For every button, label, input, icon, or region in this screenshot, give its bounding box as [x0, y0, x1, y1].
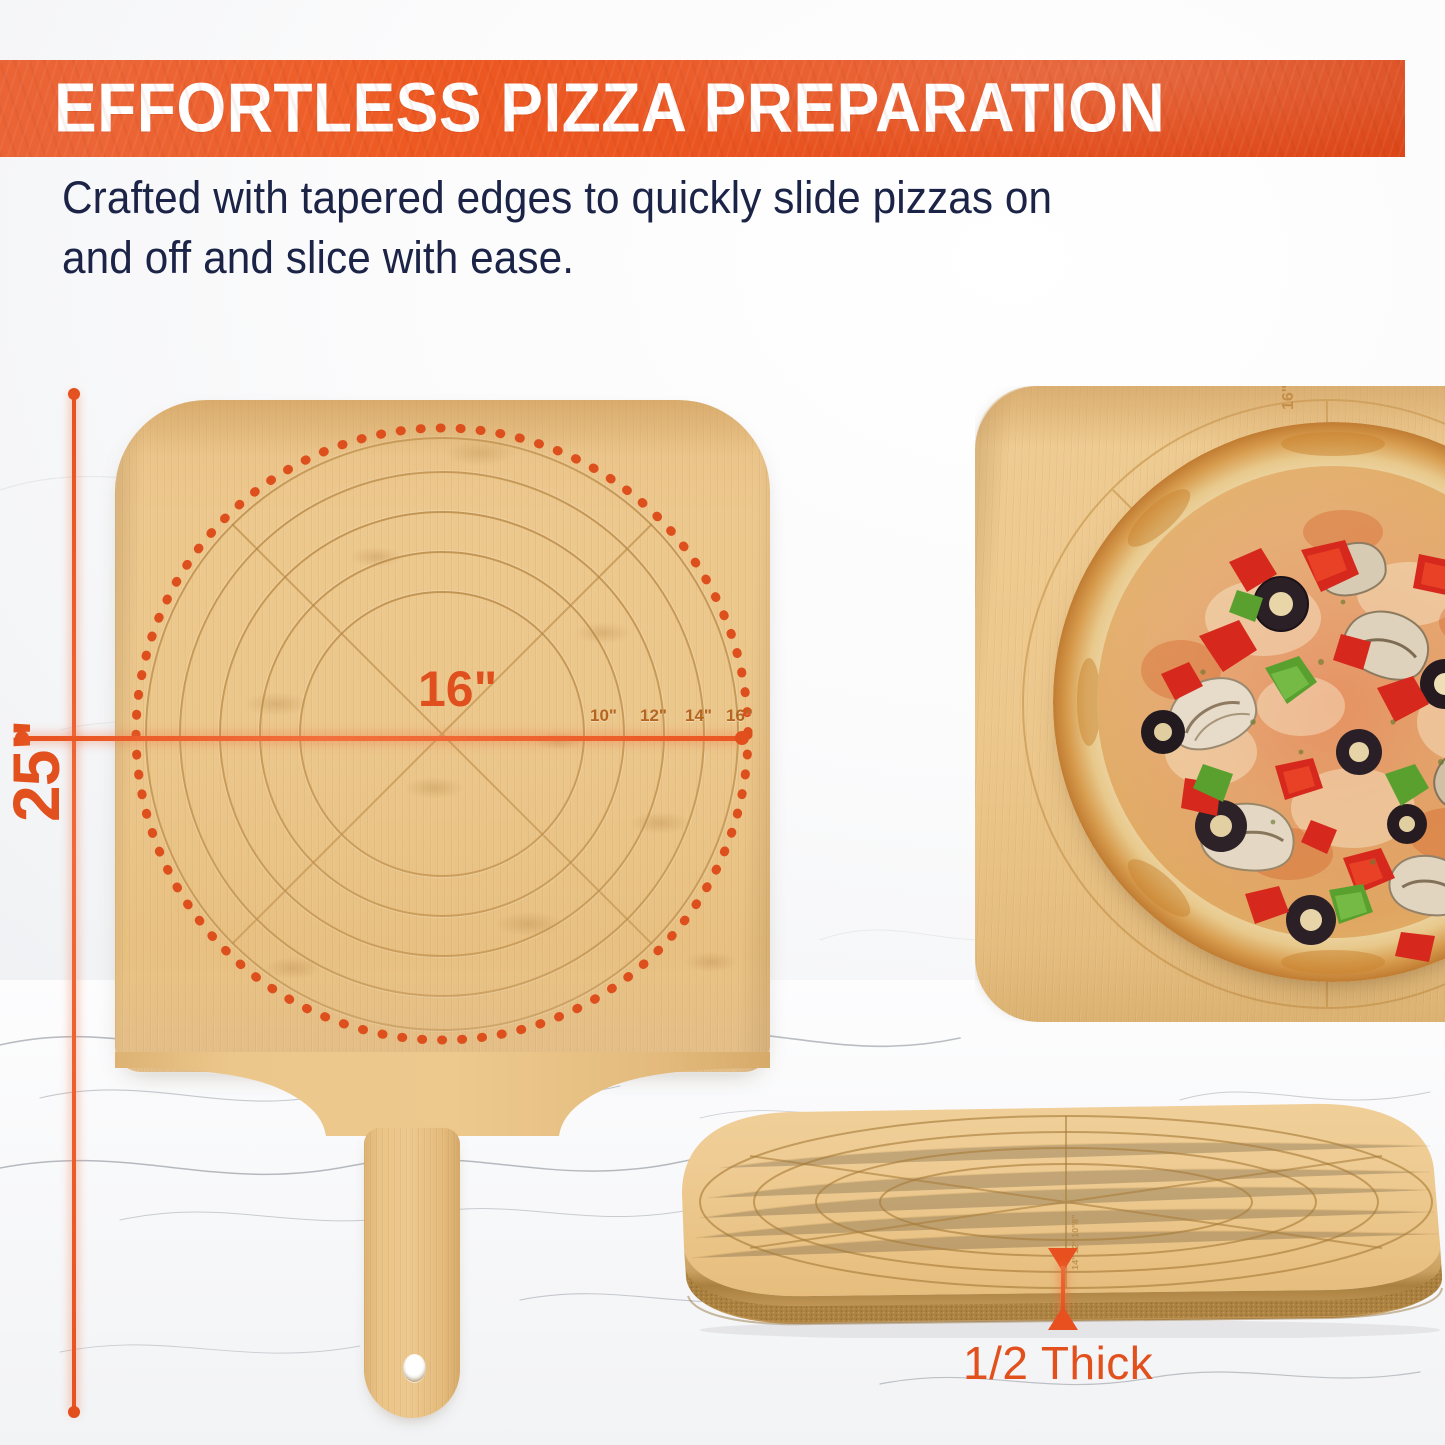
thickness-dimension-marker — [1048, 1248, 1078, 1330]
ruler-tick-labels: 10" 12" 14" 16" — [590, 706, 755, 732]
subtitle-line-1: Crafted with tapered edges to quickly sl… — [62, 168, 1052, 228]
svg-text:10": 10" — [1070, 1223, 1080, 1238]
ruler-tick-16: 16" — [726, 706, 753, 726]
subtitle-text: Crafted with tapered edges to quickly sl… — [62, 168, 1302, 288]
width-dimension-label: 16" — [418, 660, 497, 718]
thickness-dimension-label: 1/2 Thick — [963, 1336, 1153, 1390]
subtitle-line-2: and off and slice with ease. — [62, 228, 574, 288]
ruler-tick-12: 12" — [640, 706, 667, 726]
ruler-tick-10: 10" — [590, 706, 617, 726]
thickness-arrow-up-icon — [1048, 1306, 1078, 1330]
handle-hang-hole — [403, 1354, 426, 1382]
header-banner: EFFORTLESS PIZZA PREPARATION — [0, 60, 1405, 157]
infographic-stage: EFFORTLESS PIZZA PREPARATION Crafted wit… — [0, 0, 1445, 1445]
width-dimension-line — [15, 730, 749, 746]
board-size-engraving: 16" — [1280, 386, 1298, 410]
board-side-view: 8" 10" 12" 14" — [630, 1098, 1445, 1338]
dimension-endpoint-bottom — [68, 1406, 80, 1418]
height-dimension-line — [66, 388, 82, 1418]
dimension-line-horizontal — [22, 736, 742, 741]
dimension-line-vertical — [72, 394, 76, 1412]
pizza-on-board-photo: 16" — [975, 386, 1445, 1022]
dimension-endpoint-right — [735, 731, 749, 745]
ruler-tick-14: 14" — [685, 706, 712, 726]
svg-text:8": 8" — [1070, 1214, 1080, 1224]
page-title: EFFORTLESS PIZZA PREPARATION — [54, 67, 1268, 147]
